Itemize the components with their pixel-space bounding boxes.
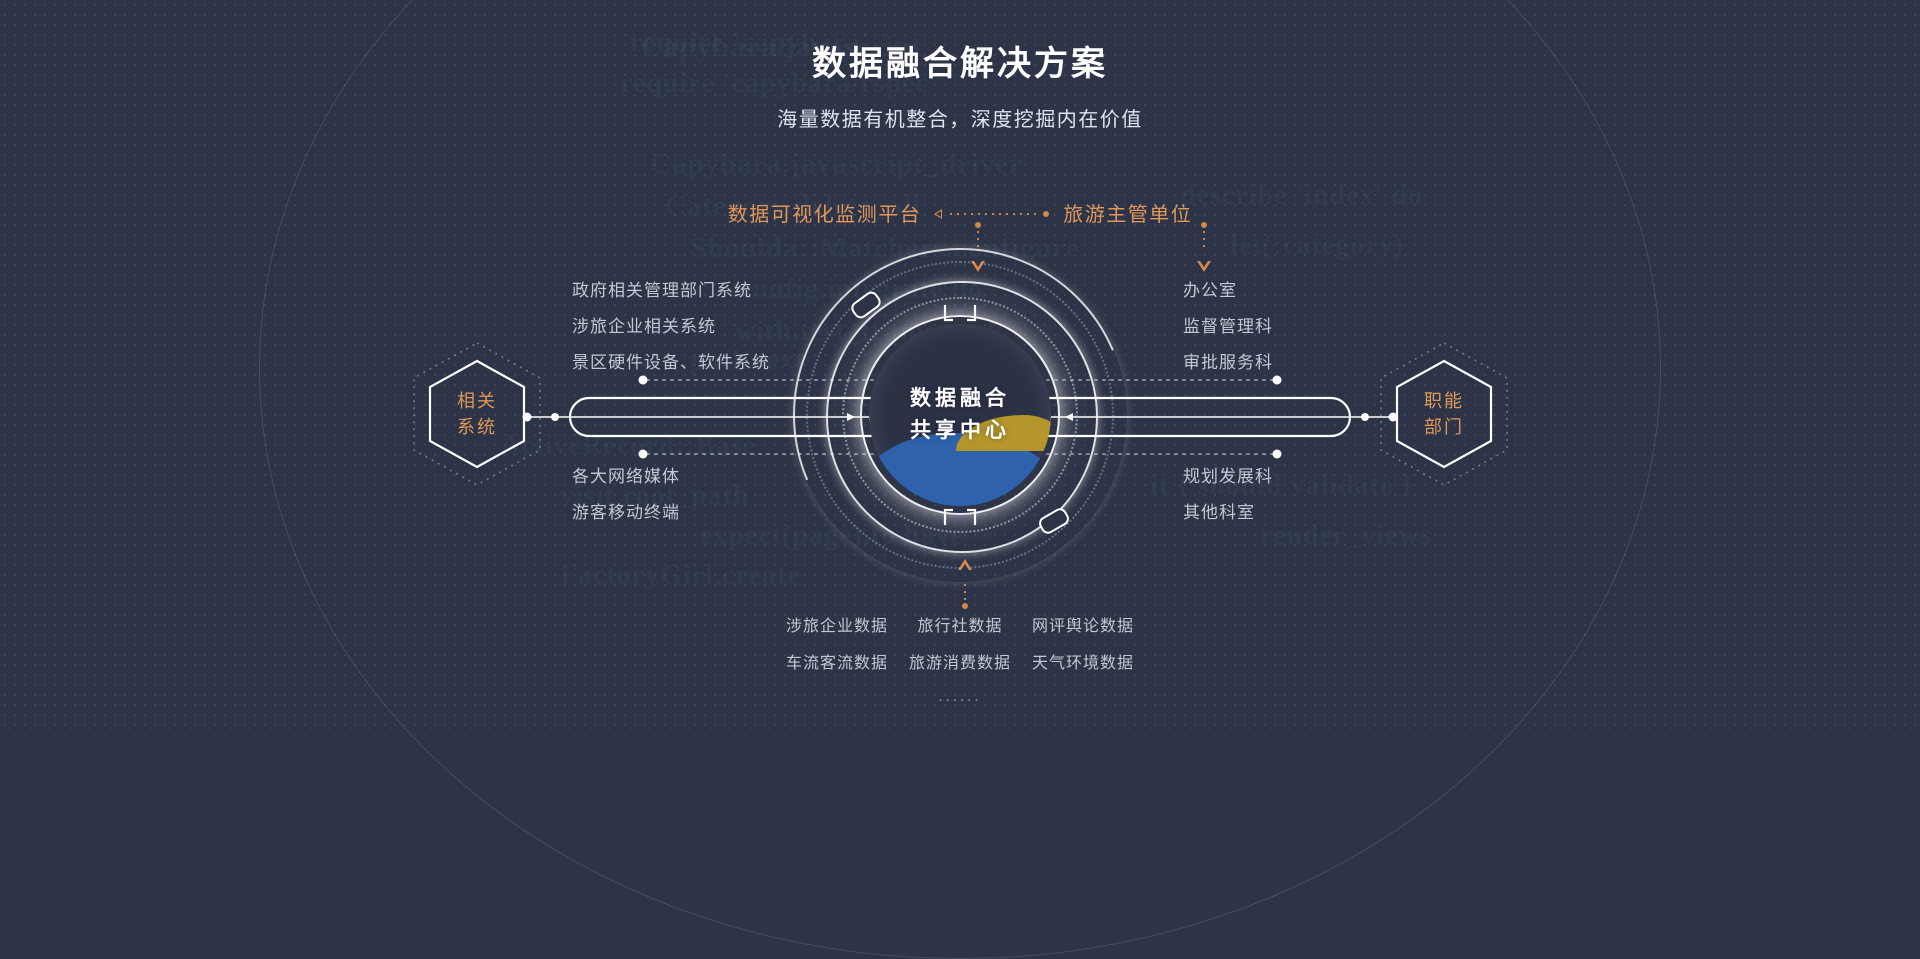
- hub-core-text: 数据融合 共享中心: [869, 324, 1051, 506]
- hexagon-left-label: 相关 系统: [411, 340, 543, 488]
- top-dashed-connector: [935, 209, 1049, 219]
- hub-line2: 共享中心: [910, 415, 1010, 447]
- bottom-cell-0-1[interactable]: 旅行社数据: [899, 608, 1022, 645]
- page-subtitle: 海量数据有机整合，深度挖掘内在价值: [0, 103, 1920, 132]
- hexagon-related-systems[interactable]: 相关 系统: [411, 340, 543, 488]
- arrow-down-icon: [1197, 250, 1211, 261]
- hub-line1: 数据融合: [910, 383, 1010, 415]
- left-bottom-source-list: 各大网络媒体游客移动终端: [572, 459, 680, 531]
- hexagon-functional-departments[interactable]: 职能 部门: [1378, 340, 1510, 488]
- right-top-department-list: 办公室监督管理科审批服务科: [1183, 273, 1273, 381]
- bottom-cell-1-2[interactable]: 天气环境数据: [1022, 645, 1145, 682]
- right-top-item-2[interactable]: 审批服务科: [1183, 345, 1273, 381]
- top-right-label: 旅游主管单位: [1063, 198, 1192, 227]
- right-bottom-department-list: 规划发展科其他科室: [1183, 459, 1273, 531]
- right-bottom-item-0[interactable]: 规划发展科: [1183, 459, 1273, 495]
- dotted-line: [977, 228, 979, 250]
- bottom-row-1: 车流客流数据旅游消费数据天气环境数据: [776, 645, 1145, 682]
- hexagon-right-label: 职能 部门: [1378, 340, 1510, 488]
- bottom-cell-1-1[interactable]: 旅游消费数据: [899, 645, 1022, 682]
- hex-right-line1: 职能: [1424, 388, 1464, 414]
- dotted-line: [964, 581, 966, 603]
- hub-core: 数据融合 共享中心: [869, 324, 1051, 506]
- center-hub[interactable]: 数据融合 共享中心: [795, 250, 1125, 580]
- left-top-item-2[interactable]: 景区硬件设备、软件系统: [572, 345, 770, 381]
- right-top-item-1[interactable]: 监督管理科: [1183, 309, 1273, 345]
- bottom-data-source-grid: 涉旅企业数据旅行社数据网评舆论数据车流客流数据旅游消费数据天气环境数据 ....…: [0, 608, 1920, 705]
- arrow-left-icon: [935, 209, 943, 219]
- dot-icon: [1043, 211, 1049, 217]
- hex-right-line2: 部门: [1424, 414, 1464, 440]
- bottom-cell-0-0[interactable]: 涉旅企业数据: [776, 608, 899, 645]
- bottom-cell-1-0[interactable]: 车流客流数据: [776, 645, 899, 682]
- bottom-ellipsis: ......: [938, 688, 981, 705]
- diagram-stage: 数据融合解决方案 海量数据有机整合，深度挖掘内在价值 数据可视化监测平台 旅游主…: [0, 0, 1920, 735]
- bottom-cell-0-2[interactable]: 网评舆论数据: [1022, 608, 1145, 645]
- left-top-source-list: 政府相关管理部门系统涉旅企业相关系统景区硬件设备、软件系统: [572, 273, 770, 381]
- dotted-line: [947, 213, 1039, 215]
- top-orange-row: 数据可视化监测平台 旅游主管单位: [0, 198, 1920, 227]
- right-top-item-0[interactable]: 办公室: [1183, 273, 1237, 309]
- bottom-row-0: 涉旅企业数据旅行社数据网评舆论数据: [776, 608, 1145, 645]
- hex-left-line1: 相关: [457, 388, 497, 414]
- hex-left-line2: 系统: [457, 414, 497, 440]
- left-top-item-0[interactable]: 政府相关管理部门系统: [572, 273, 752, 309]
- dotted-line: [1203, 228, 1205, 250]
- connector-tourism-authority: [1197, 222, 1211, 261]
- top-left-label: 数据可视化监测平台: [728, 198, 922, 227]
- page-title: 数据融合解决方案: [0, 36, 1920, 85]
- left-bottom-item-1[interactable]: 游客移动终端: [572, 495, 680, 531]
- left-bottom-item-0[interactable]: 各大网络媒体: [572, 459, 680, 495]
- right-bottom-item-1[interactable]: 其他科室: [1183, 495, 1255, 531]
- left-top-item-1[interactable]: 涉旅企业相关系统: [572, 309, 716, 345]
